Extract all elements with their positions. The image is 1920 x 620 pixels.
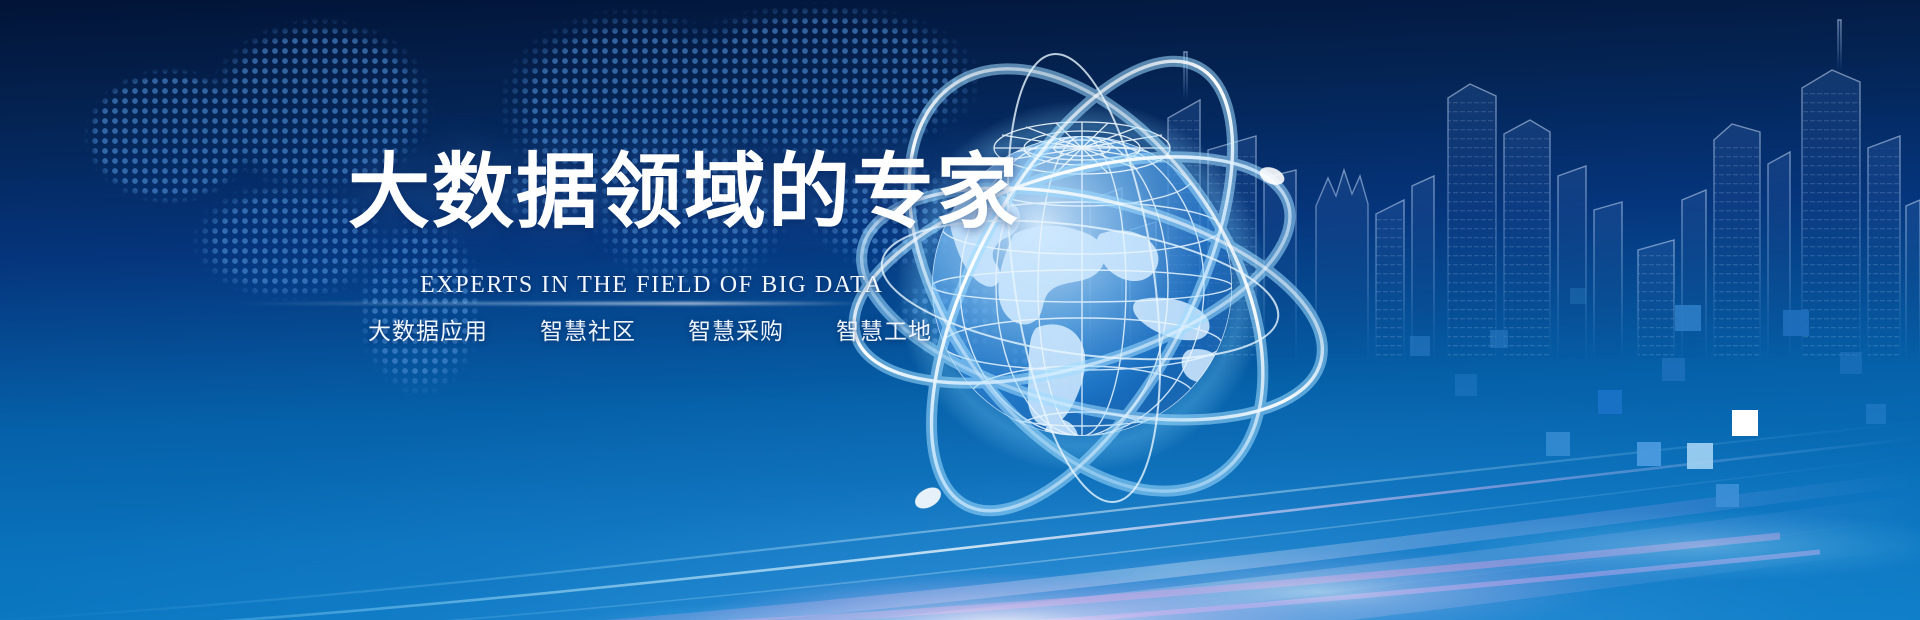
nav-link-smart-community[interactable]: 智慧社区 [540,312,636,346]
nav-link-big-data-application[interactable]: 大数据应用 [368,312,488,346]
hero-nav-links: 大数据应用 智慧社区 智慧采购 智慧工地 [368,312,932,346]
hero-banner: 大数据领域的专家 EXPERTS IN THE FIELD OF BIG DAT… [0,0,1920,620]
page-title: 大数据领域的专家 [348,152,1020,234]
page-subtitle: EXPERTS IN THE FIELD OF BIG DATA [420,272,883,299]
hero-copy: 大数据领域的专家 EXPERTS IN THE FIELD OF BIG DAT… [0,0,1020,620]
glow-divider [230,302,870,305]
nav-link-smart-construction-site[interactable]: 智慧工地 [836,312,932,346]
nav-link-smart-procurement[interactable]: 智慧采购 [688,312,784,346]
